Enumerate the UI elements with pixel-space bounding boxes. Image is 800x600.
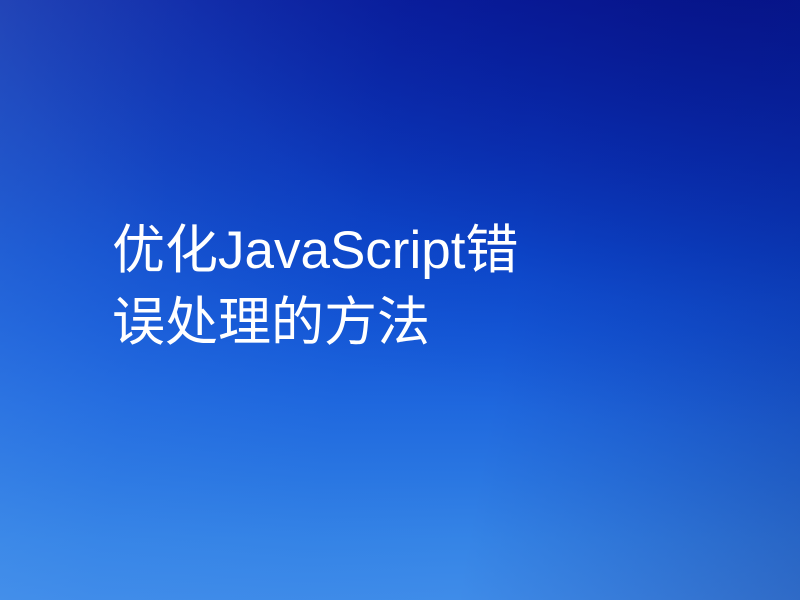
presentation-slide: 优化JavaScript错 误处理的方法 (0, 0, 800, 600)
slide-title-line-1: 优化JavaScript错 (112, 215, 672, 287)
slide-title-line-2: 误处理的方法 (112, 287, 672, 359)
slide-title-block: 优化JavaScript错 误处理的方法 (112, 215, 672, 359)
